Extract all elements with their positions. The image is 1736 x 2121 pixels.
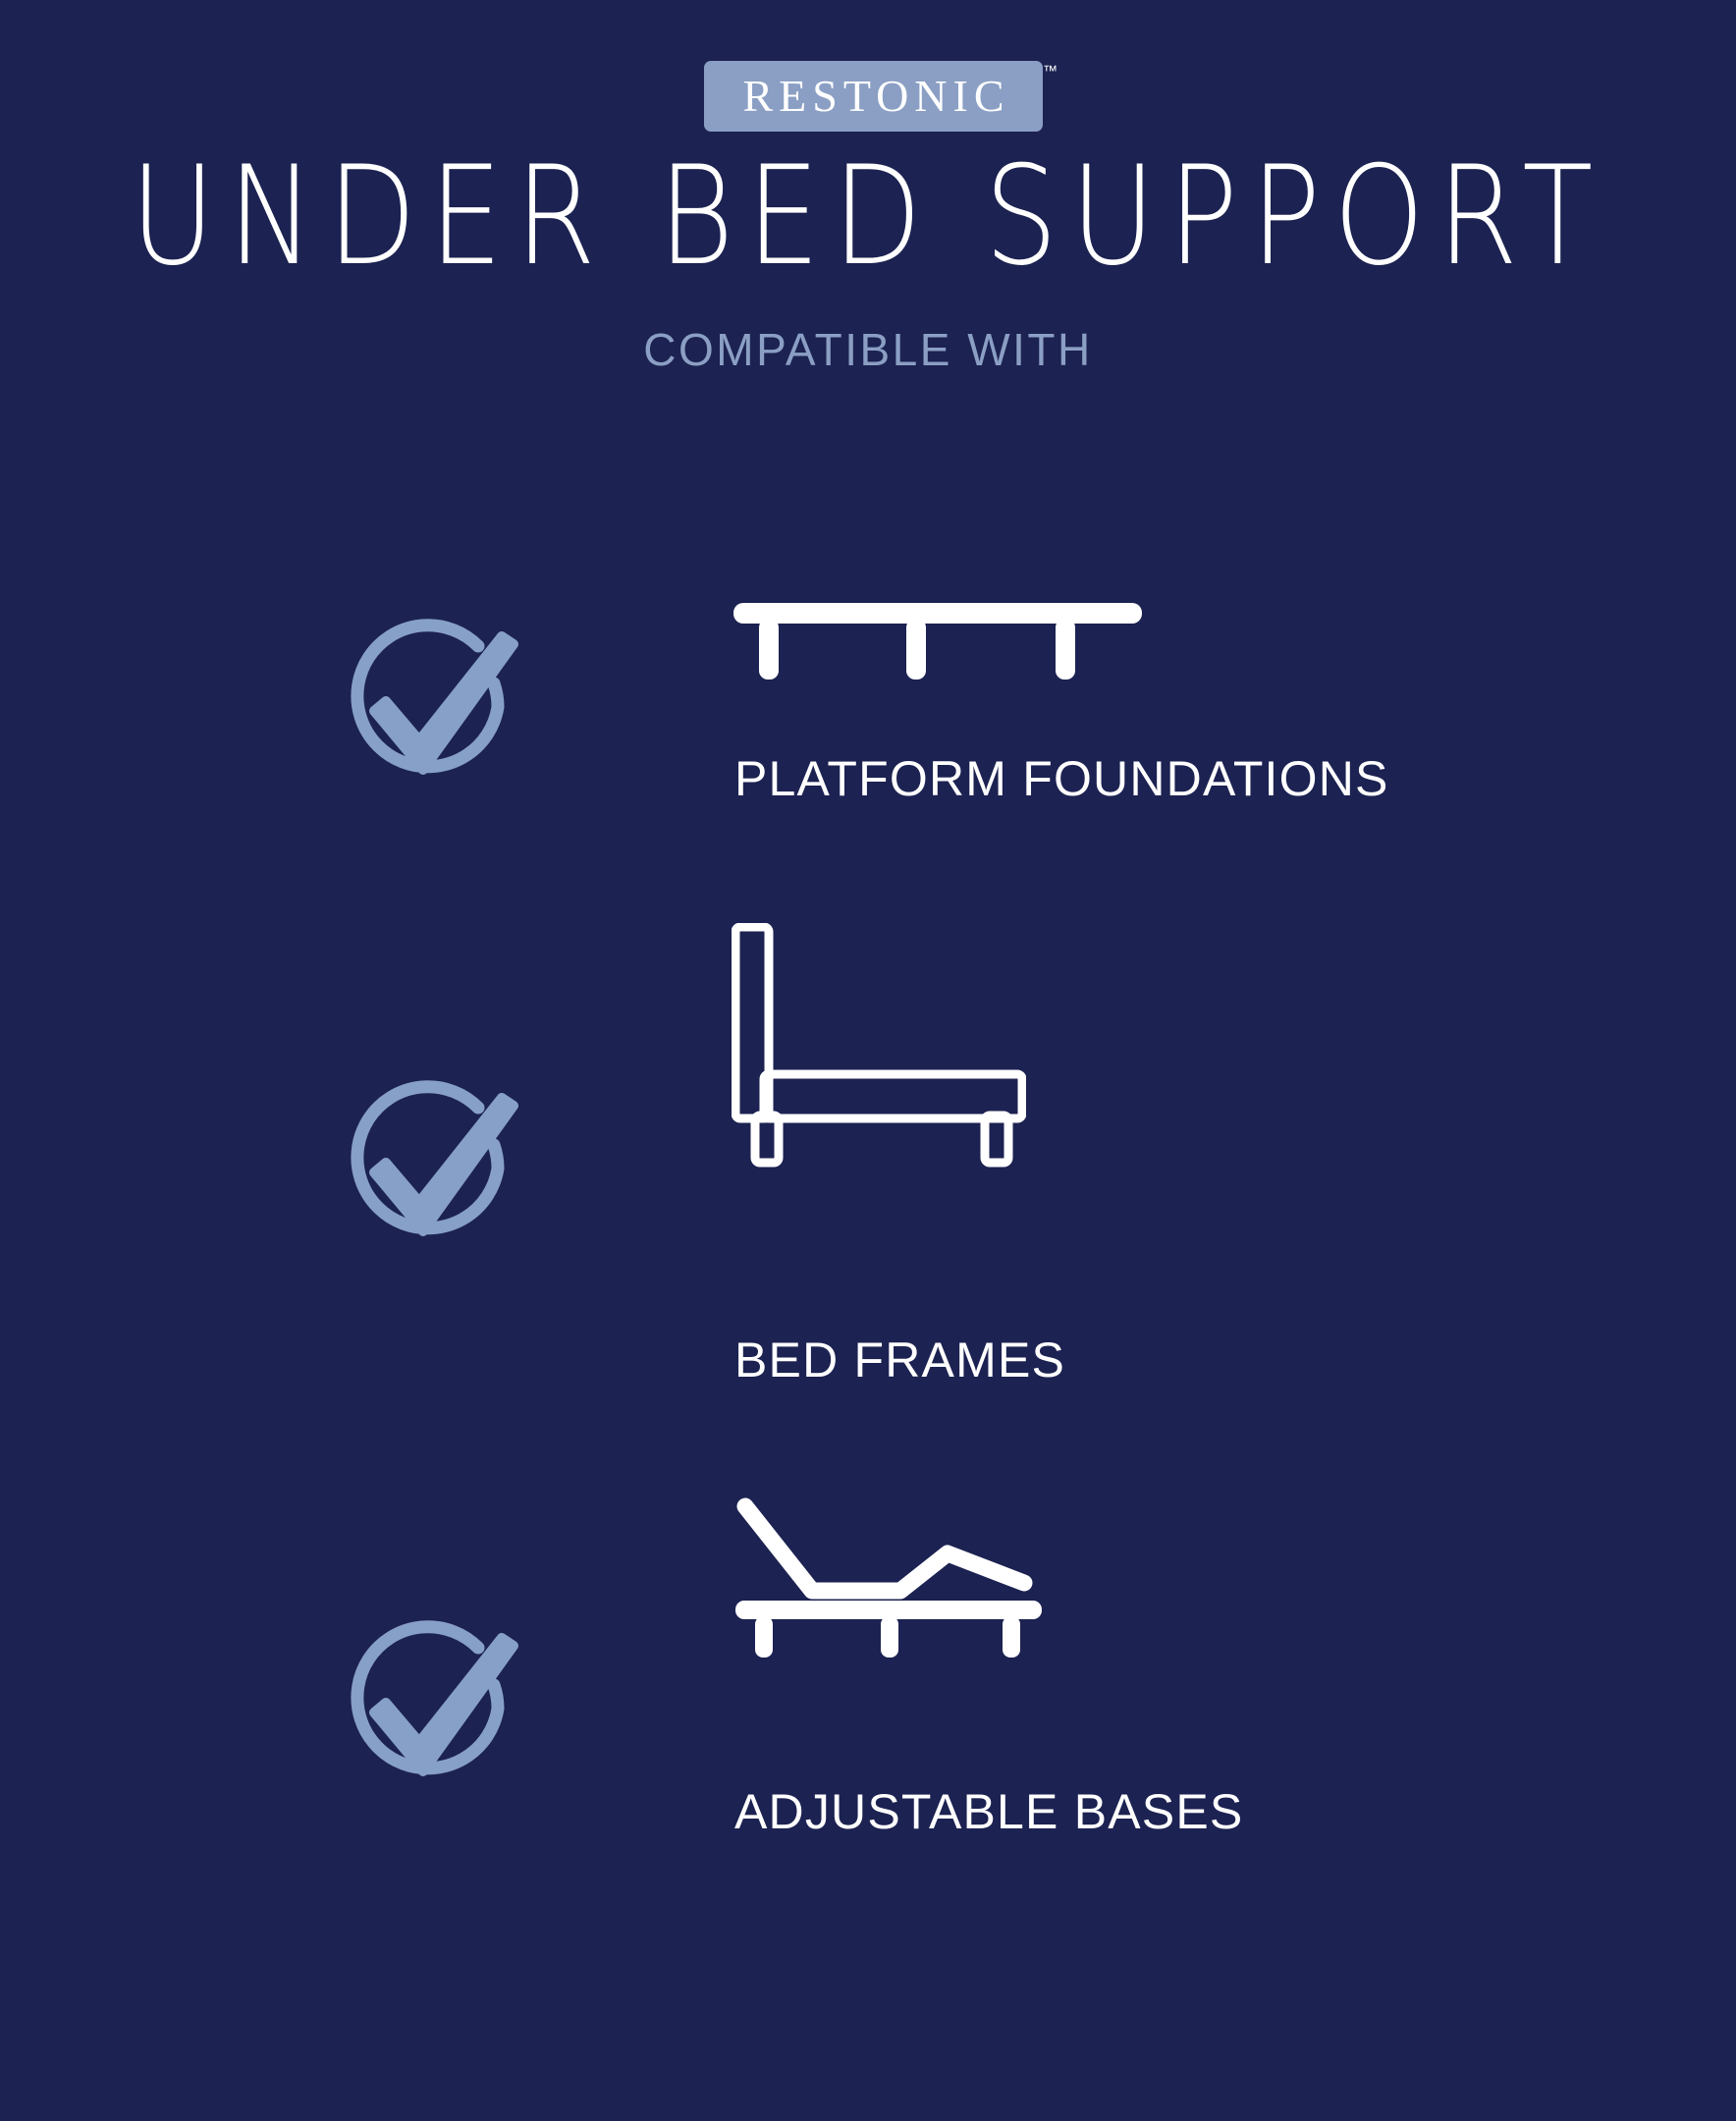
infographic-poster: RESTONIC ™ UNDER BED SUPPORT COMPATIBLE …: [0, 0, 1736, 2121]
bed-frame-icon: [732, 923, 1026, 1173]
adjustable-base-icon: [732, 1493, 1046, 1664]
check-circle-glyph: [329, 609, 525, 805]
trademark-icon: ™: [1043, 63, 1058, 80]
bed-frame-glyph: [732, 923, 1026, 1169]
platform-foundation-icon: [732, 589, 1144, 712]
page-subtitle: COMPATIBLE WITH: [0, 327, 1736, 372]
check-circle-glyph: [329, 1610, 525, 1807]
list-item-label: PLATFORM FOUNDATIONS: [734, 754, 1389, 803]
check-circle-glyph: [329, 1070, 525, 1267]
restonic-logo-badge: RESTONIC ™: [704, 61, 1043, 132]
check-circle-icon: [329, 1070, 525, 1272]
adjustable-base-glyph: [732, 1493, 1046, 1659]
check-circle-icon: [329, 609, 525, 810]
list-item-label: BED FRAMES: [734, 1335, 1065, 1385]
brand-logo-text: RESTONIC: [736, 74, 1009, 119]
list-item-label: ADJUSTABLE BASES: [734, 1787, 1243, 1836]
platform-foundation-glyph: [732, 589, 1144, 707]
check-circle-icon: [329, 1610, 525, 1812]
page-title: UNDER BED SUPPORT: [0, 147, 1736, 284]
